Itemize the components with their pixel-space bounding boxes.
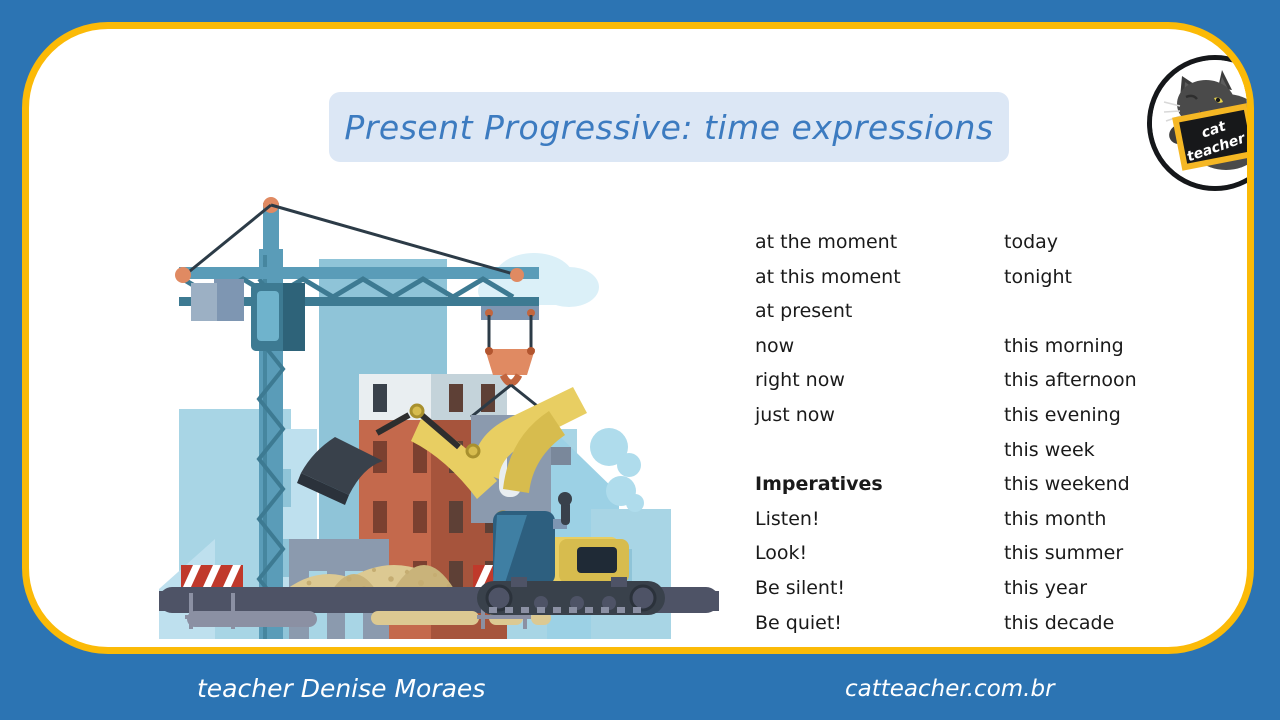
list-item: this week [1004, 433, 1234, 468]
list-item: today [1004, 225, 1234, 260]
time-expressions-column-left: at the moment at this moment at present … [755, 225, 995, 640]
time-expressions-column-right: today tonight this morning this afternoo… [1004, 225, 1234, 640]
slide-root: Present Progressive: time expressions [0, 0, 1280, 720]
title-banner: Present Progressive: time expressions [329, 92, 1009, 162]
cat-tail [1248, 146, 1254, 183]
list-item: at present [755, 294, 995, 329]
list-item: at the moment [755, 225, 995, 260]
imperatives-heading: Imperatives [755, 467, 995, 502]
cat-teacher-logo[interactable]: cat teacher [1147, 55, 1254, 191]
content-card: Present Progressive: time expressions [22, 22, 1254, 654]
list-item: right now [755, 363, 995, 398]
list-item: now [755, 329, 995, 364]
footer-author: teacher Denise Moraes [197, 674, 485, 703]
list-item: this evening [1004, 398, 1234, 433]
list-item: this afternoon [1004, 363, 1234, 398]
list-item: this month [1004, 502, 1234, 537]
footer-website: catteacher.com.br [845, 676, 1055, 702]
list-item: Be silent! [755, 571, 995, 606]
page-title: Present Progressive: time expressions [344, 108, 993, 147]
list-item: this summer [1004, 536, 1234, 571]
list-item: tonight [1004, 260, 1234, 295]
list-item: at this moment [755, 260, 995, 295]
list-item: this weekend [1004, 467, 1234, 502]
list-item: this morning [1004, 329, 1234, 364]
list-item: Be quiet! [755, 606, 995, 641]
list-item: Look! [755, 536, 995, 571]
construction-illustration [159, 179, 719, 649]
list-item: just now [755, 398, 995, 433]
list-spacer [755, 433, 995, 468]
list-item: this year [1004, 571, 1234, 606]
list-item: this decade [1004, 606, 1234, 641]
list-item: Listen! [755, 502, 995, 537]
list-spacer [1004, 294, 1234, 329]
